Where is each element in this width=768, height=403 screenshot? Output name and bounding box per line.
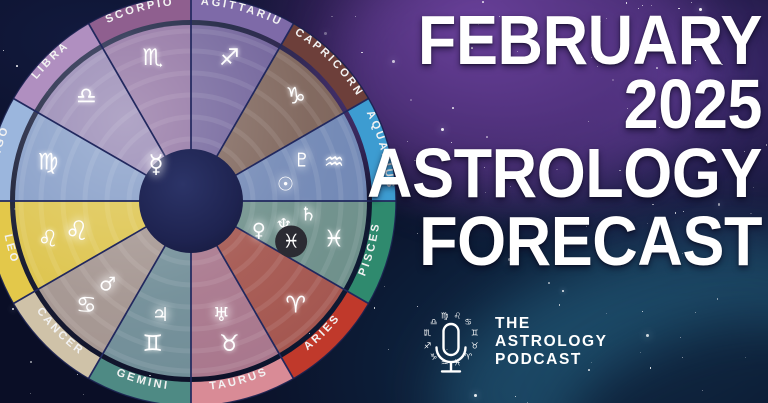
sign-glyph-virgo: ♍ xyxy=(38,150,59,176)
sign-glyph-cancer: ♋ xyxy=(76,293,97,319)
sign-glyph-capricorn: ♑ xyxy=(285,83,306,109)
logo-zodiac-glyph: ♎ xyxy=(430,317,438,327)
sign-glyph-gemini: ♊ xyxy=(142,331,163,357)
logo-zodiac-glyph: ♓ xyxy=(454,358,462,368)
poster-canvas: ♐♑♒♓♈♉♊♋♌♍♎♏ ♇☉♄♆♀♅♃♂♌♓ SAGITTARIUSCAPRI… xyxy=(0,0,768,403)
podcast-logo: ♌♋♊♉♈♓♒♑♐♏♎♍ THE ASTROLOGY PODCAST xyxy=(418,306,608,378)
sign-glyph-leo: ♌ xyxy=(38,226,59,252)
sign-glyph-sagittarius: ♐ xyxy=(219,45,240,71)
planet-pluto: ♇ xyxy=(293,150,310,172)
mercury-glyph: ☿ xyxy=(148,150,163,179)
logo-zodiac-glyph: ♈ xyxy=(465,351,473,361)
sign-glyph-aquarius: ♒ xyxy=(324,150,345,176)
planet-venus: ♀ xyxy=(252,220,266,242)
logo-line-the: THE xyxy=(495,316,608,332)
sign-glyph-pisces: ♓ xyxy=(324,226,345,252)
logo-zodiac-glyph: ♐ xyxy=(424,340,432,350)
sign-glyph-aries: ♈ xyxy=(285,293,306,319)
logo-line-astrology: ASTROLOGY xyxy=(495,334,608,350)
planet-sun: ☉ xyxy=(277,173,294,195)
sign-glyph-taurus: ♉ xyxy=(219,331,240,357)
planet-uranus: ♅ xyxy=(213,304,230,326)
logo-zodiac-glyph: ♋ xyxy=(465,317,473,327)
logo-zodiac-glyph: ♒ xyxy=(441,358,449,368)
sign-glyph-libra: ♎ xyxy=(76,83,97,109)
planet-saturn: ♄ xyxy=(300,203,317,225)
zodiac-wheel: ♐♑♒♓♈♉♊♋♌♍♎♏ ♇☉♄♆♀♅♃♂♌♓ SAGITTARIUSCAPRI… xyxy=(0,0,406,403)
logo-zodiac-glyph: ♍ xyxy=(441,310,449,320)
microphone-zodiac-icon: ♌♋♊♉♈♓♒♑♐♏♎♍ xyxy=(418,306,484,378)
podcast-logo-wordmark: THE ASTROLOGY PODCAST xyxy=(495,316,608,369)
planet-jupiter-retrograde: ♃ xyxy=(152,304,169,326)
planet-moon-in-leo: ♌ xyxy=(65,216,89,247)
logo-zodiac-glyph: ♊ xyxy=(471,328,479,338)
pisces-highlight-glyph: ♓ xyxy=(283,230,300,252)
logo-line-podcast: PODCAST xyxy=(495,352,608,368)
logo-zodiac-glyph: ♉ xyxy=(471,340,479,350)
logo-zodiac-glyph: ♌ xyxy=(454,310,462,320)
logo-zodiac-glyph: ♏ xyxy=(424,328,432,338)
sign-glyph-scorpio: ♏ xyxy=(142,45,163,71)
planet-mars-retrograde: ♂ xyxy=(99,273,116,295)
logo-zodiac-glyph: ♑ xyxy=(430,351,438,361)
